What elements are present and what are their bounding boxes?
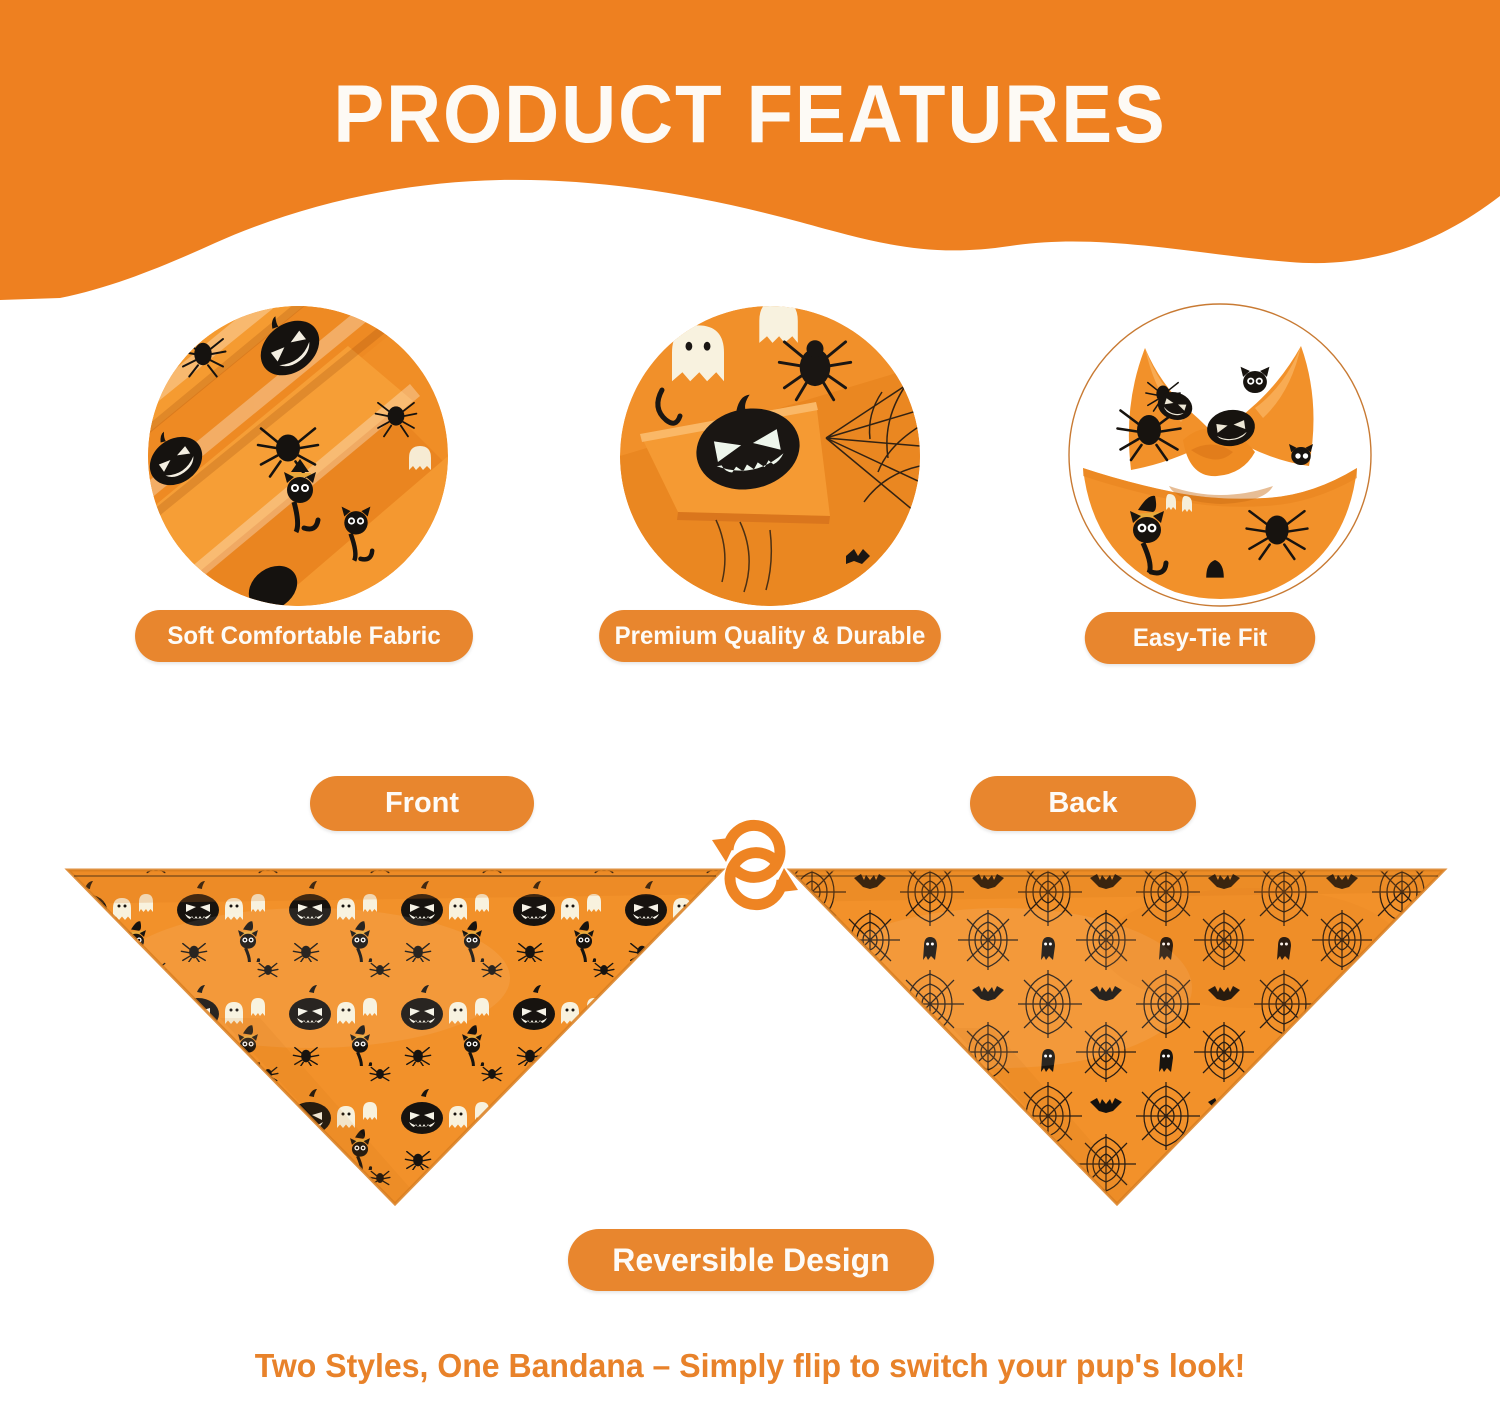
feature-label-easy-tie-fit: Easy-Tie Fit [1085,612,1315,664]
page-title: PRODUCT FEATURES [53,74,1448,156]
feature-image-premium-quality-durable [620,306,920,606]
feature-label-text: Easy-Tie Fit [1133,626,1267,651]
tagline: Two Styles, One Bandana – Simply flip to… [23,1347,1478,1385]
reversible-design-label: Reversible Design [568,1229,934,1291]
feature-label-text: Premium Quality & Durable [615,624,926,649]
flip-refresh-icon [700,810,810,920]
feature-image-soft-comfortable-fabric [148,306,448,606]
front-label: Front [310,776,534,831]
feature-label-premium-quality-durable: Premium Quality & Durable [599,610,941,662]
front-label-text: Front [385,789,459,818]
feature-image-easy-tie-fit [1065,300,1375,610]
header-banner: PRODUCT FEATURES [0,0,1500,300]
feature-label-text: Soft Comfortable Fabric [167,624,440,649]
feature-label-soft-comfortable-fabric: Soft Comfortable Fabric [135,610,473,662]
product-features-infographic: PRODUCT FEATURES [0,0,1500,1419]
bandana-front-image [60,858,730,1208]
back-label-text: Back [1048,789,1117,818]
bandana-back-image [782,858,1452,1208]
reversible-design-text: Reversible Design [612,1244,889,1276]
back-label: Back [970,776,1196,831]
